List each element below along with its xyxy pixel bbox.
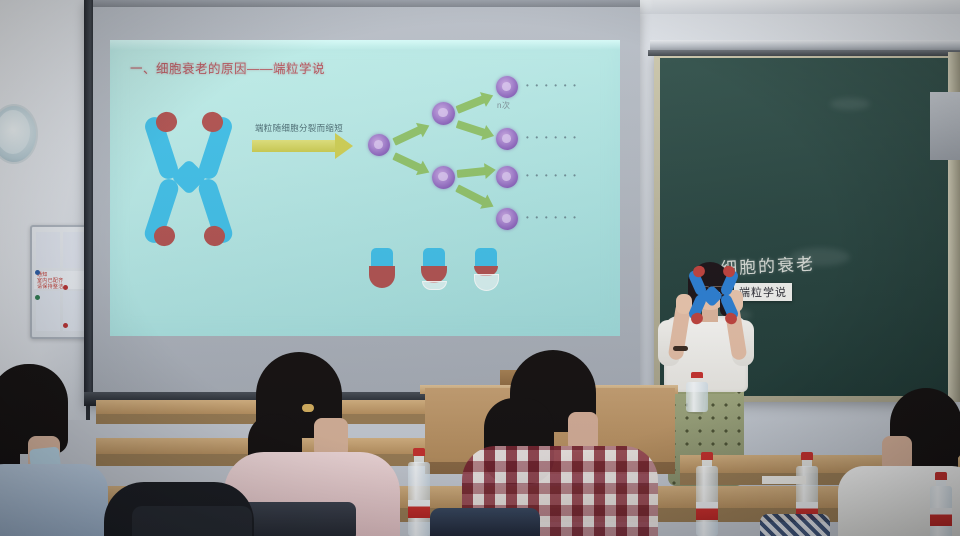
telomere-stage-2 <box>420 248 448 290</box>
water-bottle[interactable] <box>930 472 952 536</box>
ellipsis: • • • • • • <box>526 171 578 180</box>
screen-left-rail <box>84 0 93 406</box>
hair-clip <box>302 404 314 412</box>
cloth-item <box>760 514 830 536</box>
cell-gen0 <box>368 134 390 156</box>
cell-gen1 <box>432 166 455 189</box>
cell-gen1 <box>432 102 455 125</box>
left-wall <box>0 0 96 420</box>
paper-sheet <box>762 476 806 484</box>
cell-gen2 <box>496 208 518 230</box>
division-arrow <box>392 126 423 146</box>
chromosome-model <box>684 266 744 324</box>
chromosome-diagram <box>146 108 232 248</box>
slide-glow <box>110 40 620 50</box>
cell-gen2 <box>496 76 518 98</box>
process-arrow-body <box>252 140 338 152</box>
division-arrow <box>456 95 487 114</box>
telomere-stage-1 <box>368 248 396 290</box>
backpack <box>430 508 540 536</box>
division-count-label: n次 <box>497 100 510 111</box>
arrow-label: 端粒随细胞分裂而缩短 <box>255 122 343 134</box>
cell-gen2 <box>496 128 518 150</box>
division-arrow <box>457 167 488 178</box>
backpack <box>132 506 252 536</box>
notice-text: 通知室内已配齐请保持整洁 <box>37 272 64 290</box>
process-arrow-head <box>335 133 353 159</box>
presentation-slide: 一、细胞衰老的原因——端粒学说 端粒随细胞分裂而缩短 <box>110 40 620 336</box>
student-blue-mask <box>0 364 108 536</box>
division-arrow <box>456 120 487 137</box>
water-bottle[interactable] <box>686 372 708 412</box>
division-arrow <box>392 152 423 172</box>
telomere-stage-3 <box>472 248 500 290</box>
wall-speaker <box>930 92 960 160</box>
slide-title: 一、细胞衰老的原因——端粒学说 <box>130 58 325 77</box>
ellipsis: • • • • • • <box>526 213 578 222</box>
ellipsis: • • • • • • <box>526 133 578 142</box>
water-bottle[interactable] <box>696 452 718 536</box>
screen-top-edge <box>84 0 640 7</box>
cell-gen2 <box>496 166 518 188</box>
classroom-scene: 通知室内已配齐请保持整洁 一、细胞衰老的原因——端粒学说 <box>0 0 960 536</box>
division-arrow <box>455 184 487 206</box>
blackboard-rail-lower <box>648 50 960 56</box>
ellipsis: • • • • • • <box>526 81 578 90</box>
water-bottle[interactable] <box>408 448 430 536</box>
